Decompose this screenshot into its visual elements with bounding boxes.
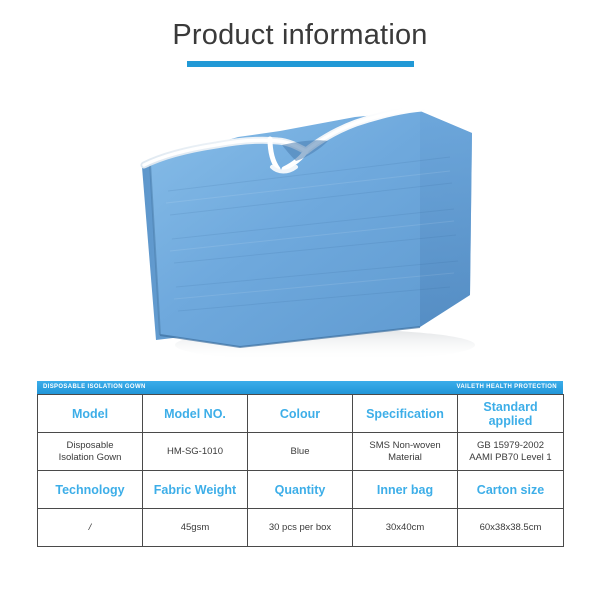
cell-line: Technology [41,483,139,497]
table-cell-carton-size-value: 60x38x38.5cm [458,509,564,547]
table-row-values-1: Disposable Isolation Gown HM-SG-1010 Blu… [38,433,564,471]
table-header-model: Model [38,395,143,433]
table-cell-colour-value: Blue [248,433,353,471]
cell-line: HM-SG-1010 [146,446,244,458]
table-cell-standard-applied-value: GB 15979-2002 AAMI PB70 Level 1 [458,433,564,471]
cell-line: Isolation Gown [41,452,139,464]
cell-line: Model [41,407,139,421]
specification-table: Model Model NO. Colour Specification Sta… [37,394,564,547]
table-header-quantity: Quantity [248,471,353,509]
gown-side-face [420,111,472,327]
cell-line: Blue [251,446,349,458]
spec-table-brand-bar: DISPOSABLE ISOLATION GOWN VAILETH HEALTH… [37,381,563,394]
table-cell-model-value: Disposable Isolation Gown [38,433,143,471]
table-header-carton-size: Carton size [458,471,564,509]
table-cell-specification-value: SMS Non-woven Material [353,433,458,471]
table-row-headers-1: Model Model NO. Colour Specification Sta… [38,395,564,433]
page-title: Product information [0,18,600,52]
cell-line: 30x40cm [356,522,454,534]
table-header-inner-bag: Inner bag [353,471,458,509]
table-cell-inner-bag-value: 30x40cm [353,509,458,547]
cell-line: Carton size [461,483,560,497]
cell-line: Standard [461,400,560,414]
cell-line: GB 15979-2002 [461,440,560,452]
title-underline-accent [187,61,414,67]
table-header-standard-applied: Standard applied [458,395,564,433]
cell-line: AAMI PB70 Level 1 [461,452,560,464]
table-row-headers-2: Technology Fabric Weight Quantity Inner … [38,471,564,509]
table-header-model-no: Model NO. [143,395,248,433]
table-header-technology: Technology [38,471,143,509]
cell-line: Fabric Weight [146,483,244,497]
cell-line: Material [356,452,454,464]
title-block: Product information [0,18,600,67]
cell-line: 60x38x38.5cm [461,522,560,534]
cell-line: Model NO. [146,407,244,421]
spec-table-block: DISPOSABLE ISOLATION GOWN VAILETH HEALTH… [37,381,563,547]
product-photo [120,95,500,370]
cell-line: Inner bag [356,483,454,497]
isolation-gown-image [120,95,500,370]
brand-bar-product-label: DISPOSABLE ISOLATION GOWN [43,381,146,394]
cell-line: 45gsm [146,522,244,534]
product-information-page: Product information [0,0,600,600]
cell-line: Quantity [251,483,349,497]
table-cell-technology-value: / [38,509,143,547]
table-header-specification: Specification [353,395,458,433]
brand-bar-company-label: VAILETH HEALTH PROTECTION [456,381,557,394]
table-header-colour: Colour [248,395,353,433]
cell-line: 30 pcs per box [251,522,349,534]
isolation-gown-illustration [120,95,500,370]
cell-line: / [41,522,139,534]
table-row-values-2: / 45gsm 30 pcs per box 30x40cm 60x38x38.… [38,509,564,547]
cell-line: applied [461,414,560,428]
table-cell-model-no-value: HM-SG-1010 [143,433,248,471]
table-header-fabric-weight: Fabric Weight [143,471,248,509]
cell-line: Specification [356,407,454,421]
table-cell-quantity-value: 30 pcs per box [248,509,353,547]
table-cell-fabric-weight-value: 45gsm [143,509,248,547]
cell-line: SMS Non-woven [356,440,454,452]
cell-line: Colour [251,407,349,421]
cell-line: Disposable [41,440,139,452]
